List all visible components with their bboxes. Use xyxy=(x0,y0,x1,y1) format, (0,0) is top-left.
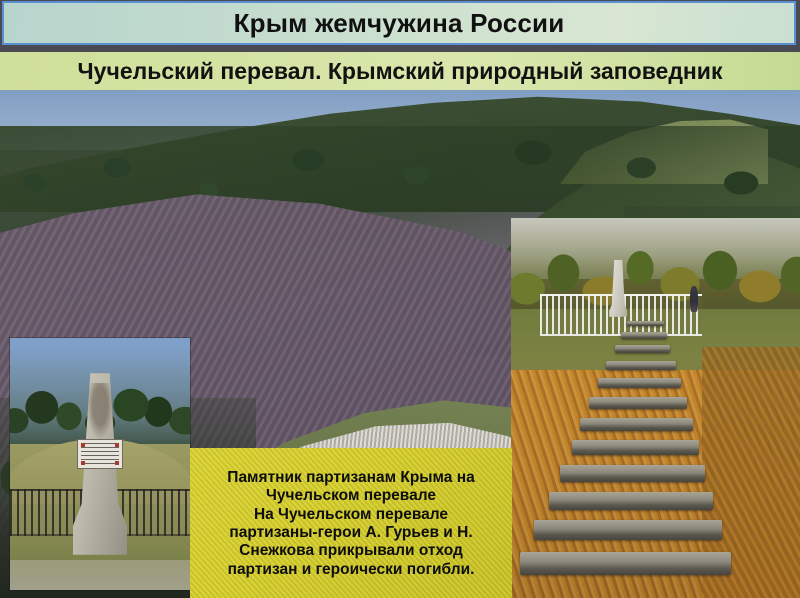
stair-step xyxy=(580,418,693,432)
obelisk-weather-stain xyxy=(87,383,113,439)
caption-text: Памятник партизанам Крыма на Чучельском … xyxy=(196,469,506,579)
plaque-corner-mark xyxy=(115,443,119,447)
monument-photo xyxy=(10,338,190,590)
slide-subtitle: Чучельский перевал. Крымский природный з… xyxy=(78,60,723,83)
stair-step xyxy=(534,520,722,540)
slide-title: Крым жемчужина России xyxy=(234,10,565,36)
caption-line: Чучельском перевале xyxy=(196,487,506,505)
stair-step xyxy=(615,345,670,353)
slide-title-banner: Крым жемчужина России xyxy=(2,1,796,45)
monument-plaque xyxy=(77,439,123,469)
stair-step xyxy=(572,440,699,455)
stair-step xyxy=(606,361,675,370)
caption-line: Снежкова прикрывали отход xyxy=(196,542,506,560)
stair-step xyxy=(520,552,731,575)
caption-line: партизаны-герои А. Гурьев и Н. xyxy=(196,524,506,542)
monument-foreground-path xyxy=(10,560,190,590)
caption-textbox: Памятник партизанам Крыма на Чучельском … xyxy=(190,448,512,598)
stair-step xyxy=(627,321,665,327)
slide-subtitle-banner: Чучельский перевал. Крымский природный з… xyxy=(0,52,800,90)
caption-line: Памятник партизанам Крыма на xyxy=(196,469,506,487)
caption-line: На Чучельском перевале xyxy=(196,506,506,524)
walking-person xyxy=(690,286,698,312)
plaque-inscription-lines xyxy=(81,443,119,465)
plaque-corner-mark xyxy=(81,443,85,447)
caption-line: партизан и героически погибли. xyxy=(196,561,506,579)
stair-step xyxy=(560,465,705,482)
stair-step xyxy=(621,332,667,339)
stair-step xyxy=(589,397,687,409)
plaque-corner-mark xyxy=(81,461,85,465)
stair-step xyxy=(549,492,714,510)
plaque-corner-mark xyxy=(115,461,119,465)
presentation-slide: Крым жемчужина России Чучельский перевал… xyxy=(0,0,800,598)
stair-step xyxy=(598,378,682,389)
staircase-photo xyxy=(511,218,800,598)
